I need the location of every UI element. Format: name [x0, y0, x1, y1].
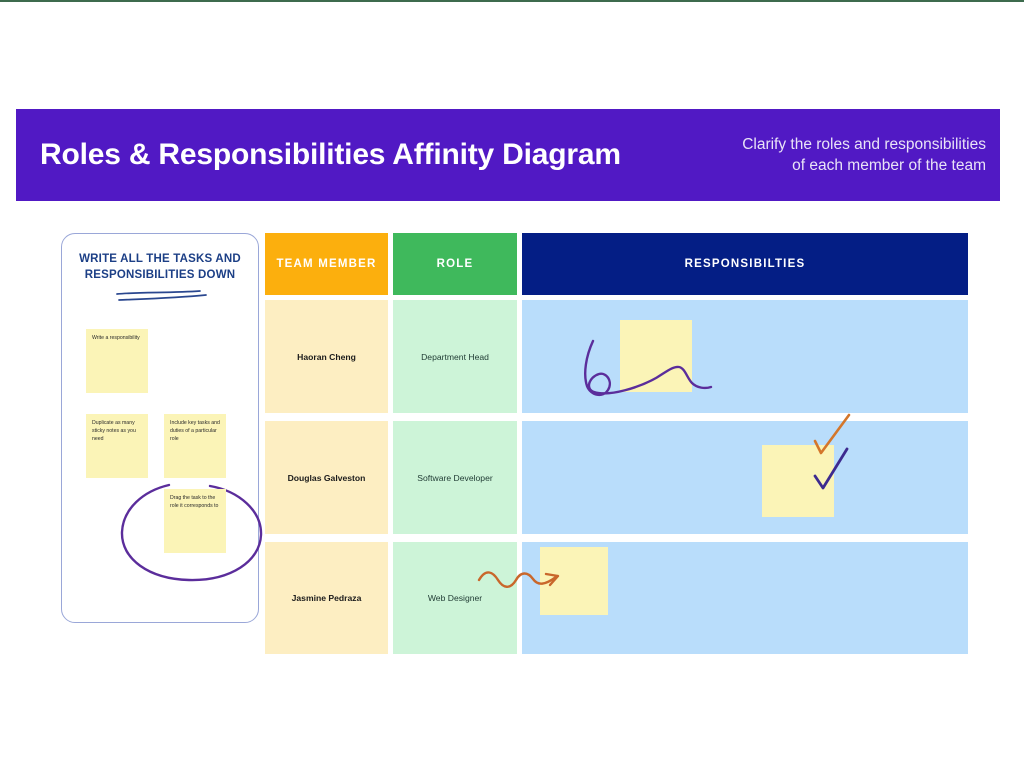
sticky-note[interactable]: Drag the task to the role it corresponds… — [164, 489, 226, 553]
table-cell-role[interactable]: Department Head — [393, 300, 517, 413]
table-cell-responsibilities[interactable] — [522, 421, 968, 534]
column-header-role: ROLE — [393, 233, 517, 295]
instruction-card-title: WRITE ALL THE TASKS AND RESPONSIBILITIES… — [72, 251, 248, 283]
table-cell-responsibilities[interactable] — [522, 300, 968, 413]
slide-canvas: Roles & Responsibilities Affinity Diagra… — [0, 0, 1024, 769]
column-header-team-member: TEAM MEMBER — [265, 233, 388, 295]
table-cell-role[interactable]: Software Developer — [393, 421, 517, 534]
sticky-note[interactable] — [762, 445, 834, 517]
title-banner: Roles & Responsibilities Affinity Diagra… — [16, 109, 1000, 201]
sticky-note-text: Duplicate as many sticky notes as you ne… — [92, 419, 143, 443]
sticky-note[interactable]: Duplicate as many sticky notes as you ne… — [86, 414, 148, 478]
instruction-card: WRITE ALL THE TASKS AND RESPONSIBILITIES… — [61, 233, 259, 623]
page-subtitle: Clarify the roles and responsibilities o… — [742, 134, 986, 176]
page-title: Roles & Responsibilities Affinity Diagra… — [40, 138, 621, 172]
sticky-note[interactable]: Include key tasks and duties of a partic… — [164, 414, 226, 478]
sticky-note[interactable] — [540, 547, 608, 615]
roles-table: TEAM MEMBER ROLE RESPONSIBILTIES Haoran … — [265, 233, 968, 657]
column-header-responsibilities: RESPONSIBILTIES — [522, 233, 968, 295]
table-cell-role[interactable]: Web Designer — [393, 542, 517, 654]
sticky-note[interactable]: Write a responsibility — [86, 329, 148, 393]
table-cell-member[interactable]: Douglas Galveston — [265, 421, 388, 534]
sticky-note[interactable] — [620, 320, 692, 392]
sticky-note-text: Write a responsibility — [92, 334, 143, 342]
underline-doodle-icon — [114, 290, 210, 306]
table-cell-member[interactable]: Haoran Cheng — [265, 300, 388, 413]
top-divider — [0, 0, 1024, 2]
sticky-note-text: Include key tasks and duties of a partic… — [170, 419, 221, 443]
table-cell-member[interactable]: Jasmine Pedraza — [265, 542, 388, 654]
sticky-note-text: Drag the task to the role it corresponds… — [170, 494, 221, 510]
